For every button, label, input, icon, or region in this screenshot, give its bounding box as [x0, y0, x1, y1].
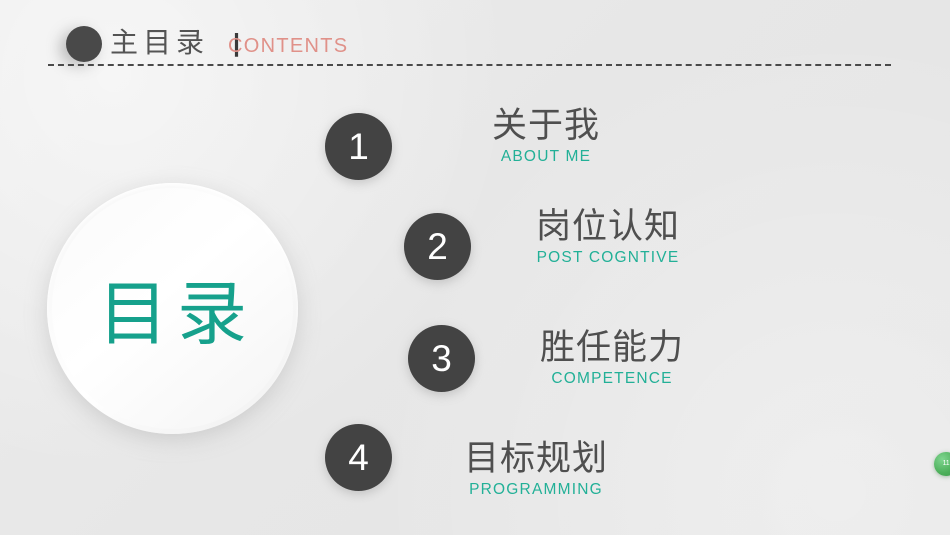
entry-text-block: 岗位认知 POST COGNTIVE [482, 205, 734, 268]
corner-badge-icon[interactable]: 11 [934, 452, 950, 476]
entry-subtitle: POST COGNTIVE [482, 248, 734, 268]
entry-subtitle: COMPETENCE [486, 369, 738, 389]
page-title: 主目录 [110, 23, 209, 63]
entry-title: 目标规划 [410, 437, 662, 481]
header-divider [48, 64, 891, 66]
entry-number-badge: 1 [325, 113, 392, 180]
hero-circle: 目录 [47, 183, 298, 434]
entry-title: 关于我 [420, 104, 672, 148]
entry-number-badge: 2 [404, 213, 471, 280]
entry-text-block: 关于我 ABOUT ME [420, 104, 672, 167]
entry-number-badge: 4 [325, 424, 392, 491]
page-subtitle: CONTENTS [228, 32, 348, 60]
slide-canvas: 主目录 | CONTENTS 目录 1 关于我 ABOUT ME 2 岗位认知 … [0, 0, 950, 535]
corner-badge-label: 11 [934, 452, 950, 476]
entry-text-block: 目标规划 PROGRAMMING [410, 437, 662, 500]
entry-title: 岗位认知 [482, 205, 734, 249]
entry-number-badge: 3 [408, 325, 475, 392]
entry-subtitle: ABOUT ME [420, 147, 672, 167]
hero-circle-label: 目录 [47, 183, 298, 434]
entry-title: 胜任能力 [486, 326, 738, 370]
entry-subtitle: PROGRAMMING [410, 480, 662, 500]
bullet-dot-icon [66, 26, 102, 62]
slide-header: 主目录 | CONTENTS [0, 0, 950, 72]
entry-text-block: 胜任能力 COMPETENCE [486, 326, 738, 389]
